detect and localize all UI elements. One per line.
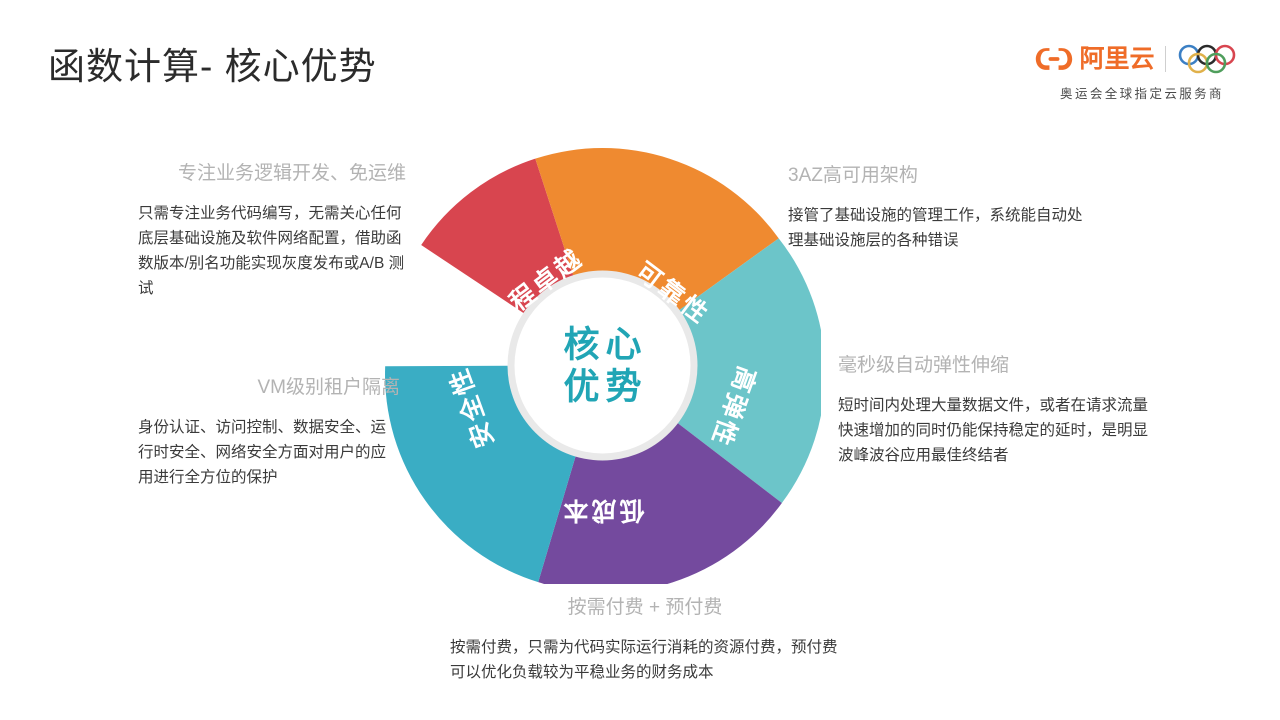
alibaba-cloud-logo: 阿里云: [1034, 46, 1154, 72]
callout-top-left: 专注业务逻辑开发、免运维 只需专注业务代码编写，无需关心任何底层基础设施及软件网…: [138, 158, 406, 301]
callout-left-body: 身份认证、访问控制、数据安全、运行时安全、网络安全方面对用户的应用进行全方位的保…: [138, 415, 400, 490]
callout-top-left-heading: 专注业务逻辑开发、免运维: [138, 158, 406, 185]
core-advantages-donut: 工程卓越 可靠性 高弹性 低成本 安全性 核心 优势: [384, 147, 821, 584]
page-title: 函数计算- 核心优势: [48, 36, 377, 90]
callout-right: 毫秒级自动弹性伸缩 短时间内处理大量数据文件，或者在请求流量快速增加的同时仍能保…: [838, 350, 1148, 468]
callout-bottom-body: 按需付费，只需为代码实际运行消耗的资源付费，预付费可以优化负载较为平稳业务的财务…: [450, 635, 840, 685]
brand-row: 阿里云: [1034, 42, 1250, 76]
callout-top-right-body: 接管了基础设施的管理工作，系统能自动处理基础设施层的各种错误: [788, 203, 1088, 253]
olympic-rings-icon: [1176, 44, 1250, 74]
callout-left: VM级别租户隔离 身份认证、访问控制、数据安全、运行时安全、网络安全方面对用户的…: [138, 372, 400, 490]
brand-lockup: 阿里云 奥运会全球指定云服务商: [1034, 42, 1250, 102]
brand-name: 阿里云: [1079, 47, 1154, 72]
callout-right-heading: 毫秒级自动弹性伸缩: [838, 350, 1148, 377]
callout-top-left-body: 只需专注业务代码编写，无需关心任何底层基础设施及软件网络配置，借助函数版本/别名…: [138, 201, 406, 301]
callout-top-right-heading: 3AZ高可用架构: [788, 160, 1088, 187]
callout-top-right: 3AZ高可用架构 接管了基础设施的管理工作，系统能自动处理基础设施层的各种错误: [788, 160, 1088, 253]
callout-bottom: 按需付费 + 预付费 按需付费，只需为代码实际运行消耗的资源付费，预付费可以优化…: [450, 592, 840, 685]
donut-center-line-1: 核心: [528, 323, 678, 365]
cloud-bracket-icon: [1034, 46, 1074, 72]
brand-subtitle: 奥运会全球指定云服务商: [1034, 83, 1250, 102]
donut-label-low-cost: 低成本: [560, 496, 645, 524]
brand-divider: [1165, 46, 1166, 72]
donut-center-label: 核心 优势: [528, 323, 678, 408]
callout-bottom-heading: 按需付费 + 预付费: [450, 592, 840, 619]
callout-left-heading: VM级别租户隔离: [138, 372, 400, 399]
slide-canvas: 函数计算- 核心优势 阿里云: [0, 0, 1280, 720]
callout-right-body: 短时间内处理大量数据文件，或者在请求流量快速增加的同时仍能保持稳定的延时，是明显…: [838, 393, 1148, 468]
donut-center-line-2: 优势: [528, 366, 678, 408]
